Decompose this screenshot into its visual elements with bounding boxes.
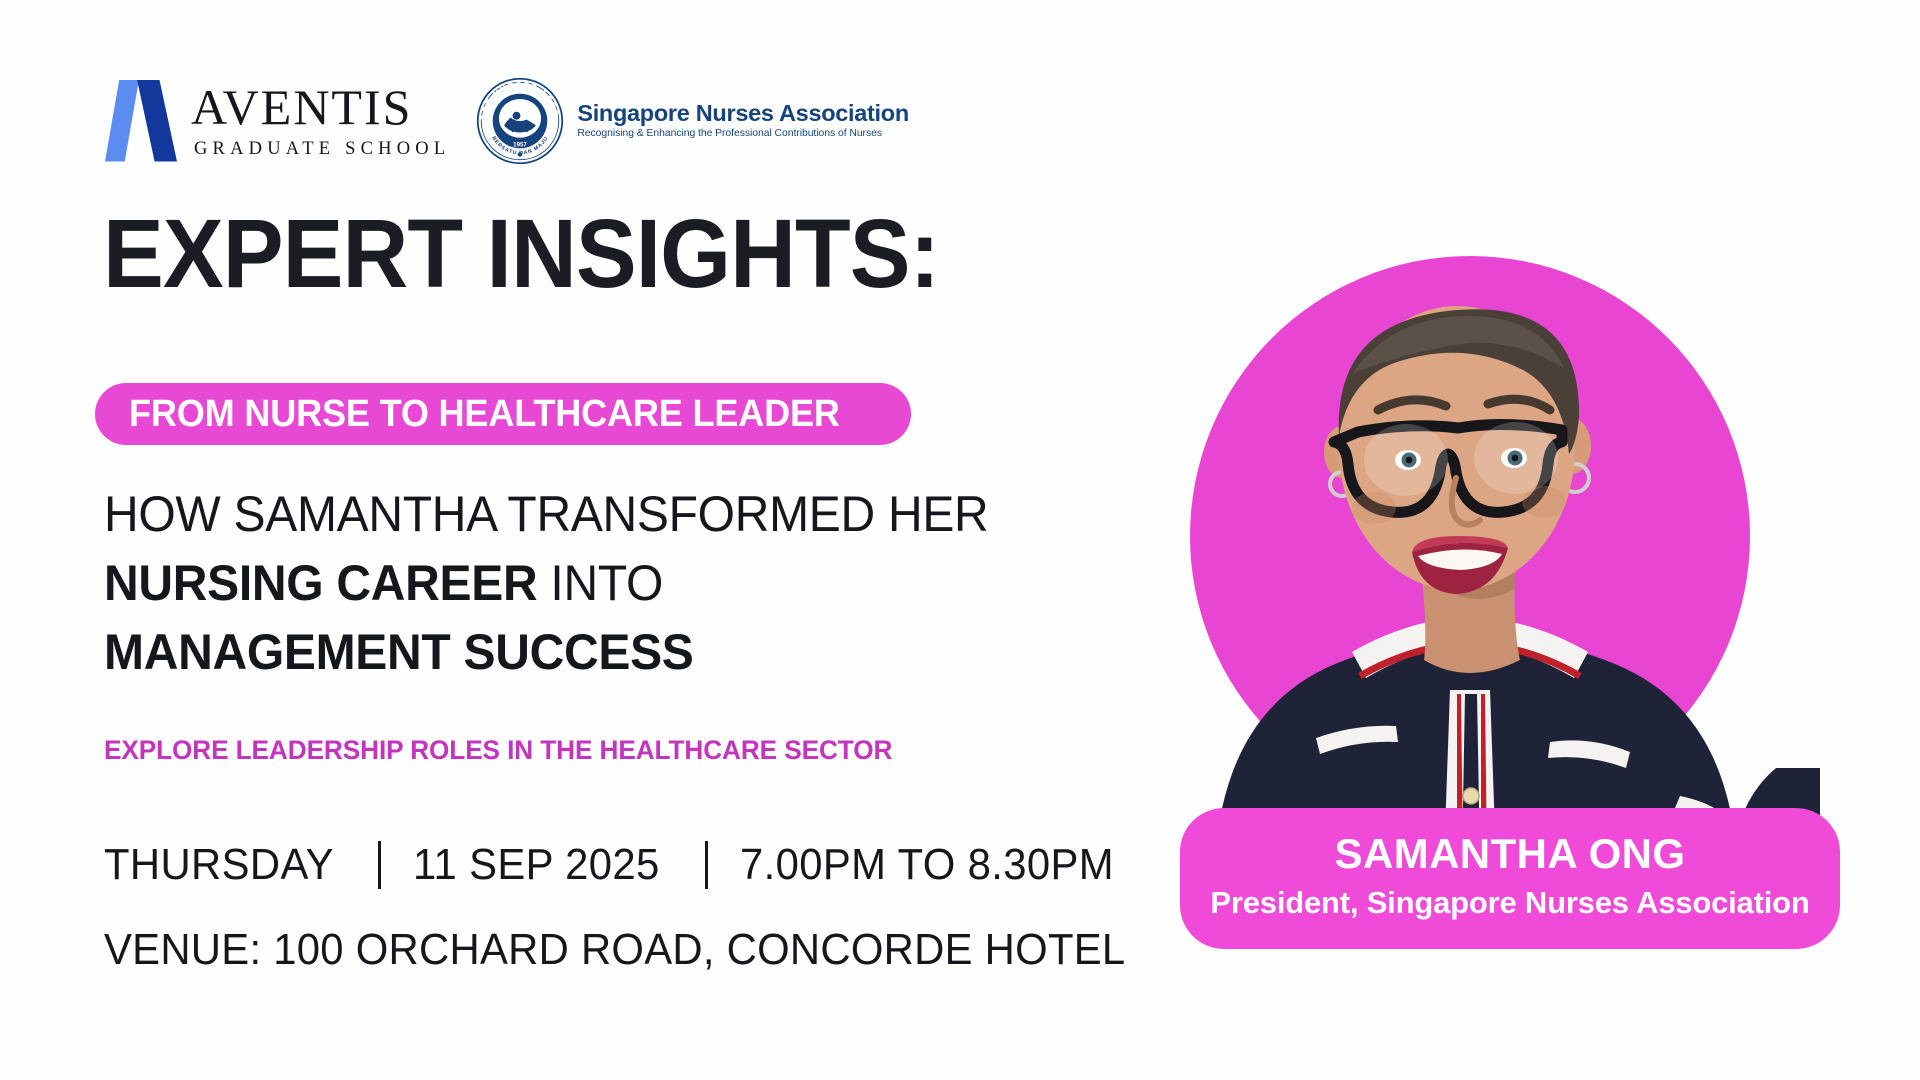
singapore-nurses-association-logo: SINGAPORE NURSES ASSOCIATION 1957 BERSAT… <box>476 77 909 165</box>
body-line-1-text: HOW SAMANTHA TRANSFORMED HER <box>104 486 988 542</box>
body-line-2-emphasis: NURSING CAREER <box>104 555 537 611</box>
datetime-divider-2 <box>705 841 708 889</box>
event-day: THURSDAY <box>104 840 334 890</box>
right-visual-column: SAMANTHA ONG President, Singapore Nurses… <box>1080 0 1920 1080</box>
page-title: EXPERT INSIGHTS: <box>103 205 939 302</box>
logo-bar: AVENTIS GRADUATE SCHOOL <box>105 68 909 173</box>
speaker-portrait <box>1120 160 1820 860</box>
aventis-graduate-school-logo: AVENTIS GRADUATE SCHOOL <box>105 80 450 162</box>
event-datetime-row: THURSDAY 11 SEP 2025 7.00PM TO 8.30PM <box>104 840 1133 890</box>
left-content-column: AVENTIS GRADUATE SCHOOL <box>0 0 1080 1080</box>
sna-seal-icon: SINGAPORE NURSES ASSOCIATION 1957 BERSAT… <box>476 77 564 165</box>
body-line-3: MANAGEMENT SUCCESS <box>104 618 987 687</box>
svg-text:1957: 1957 <box>513 141 527 148</box>
body-line-1: HOW SAMANTHA TRANSFORMED HER <box>104 480 987 549</box>
aventis-wordmark: AVENTIS GRADUATE SCHOOL <box>191 82 450 160</box>
event-venue: VENUE: 100 ORCHARD ROAD, CONCORDE HOTEL <box>104 925 1125 975</box>
subtitle-pill-text: FROM NURSE TO HEALTHCARE LEADER <box>129 393 840 436</box>
subtitle-pill-banner: FROM NURSE TO HEALTHCARE LEADER <box>95 383 911 445</box>
event-date: 11 SEP 2025 <box>413 840 660 890</box>
aventis-name: AVENTIS <box>191 82 450 132</box>
body-line-2-text: INTO <box>537 555 663 611</box>
aventis-subtitle: GRADUATE SCHOOL <box>194 139 450 160</box>
sna-wordmark: Singapore Nurses Association Recognising… <box>577 102 909 140</box>
explore-tagline: EXPLORE LEADERSHIP ROLES IN THE HEALTHCA… <box>104 735 892 766</box>
body-line-2: NURSING CAREER INTO <box>104 549 987 618</box>
speaker-title: President, Singapore Nurses Association <box>1210 884 1810 922</box>
body-line-3-emphasis: MANAGEMENT SUCCESS <box>104 624 694 680</box>
speaker-name-card: SAMANTHA ONG President, Singapore Nurses… <box>1180 808 1840 949</box>
body-copy-block: HOW SAMANTHA TRANSFORMED HER NURSING CAR… <box>104 480 1024 687</box>
sna-name: Singapore Nurses Association <box>577 102 909 126</box>
aventis-a-mark-icon <box>105 80 177 162</box>
datetime-divider-1 <box>378 841 381 889</box>
event-time: 7.00PM TO 8.30PM <box>740 840 1114 890</box>
speaker-name: SAMANTHA ONG <box>1210 830 1810 878</box>
sna-tagline: Recognising & Enhancing the Professional… <box>577 128 909 139</box>
